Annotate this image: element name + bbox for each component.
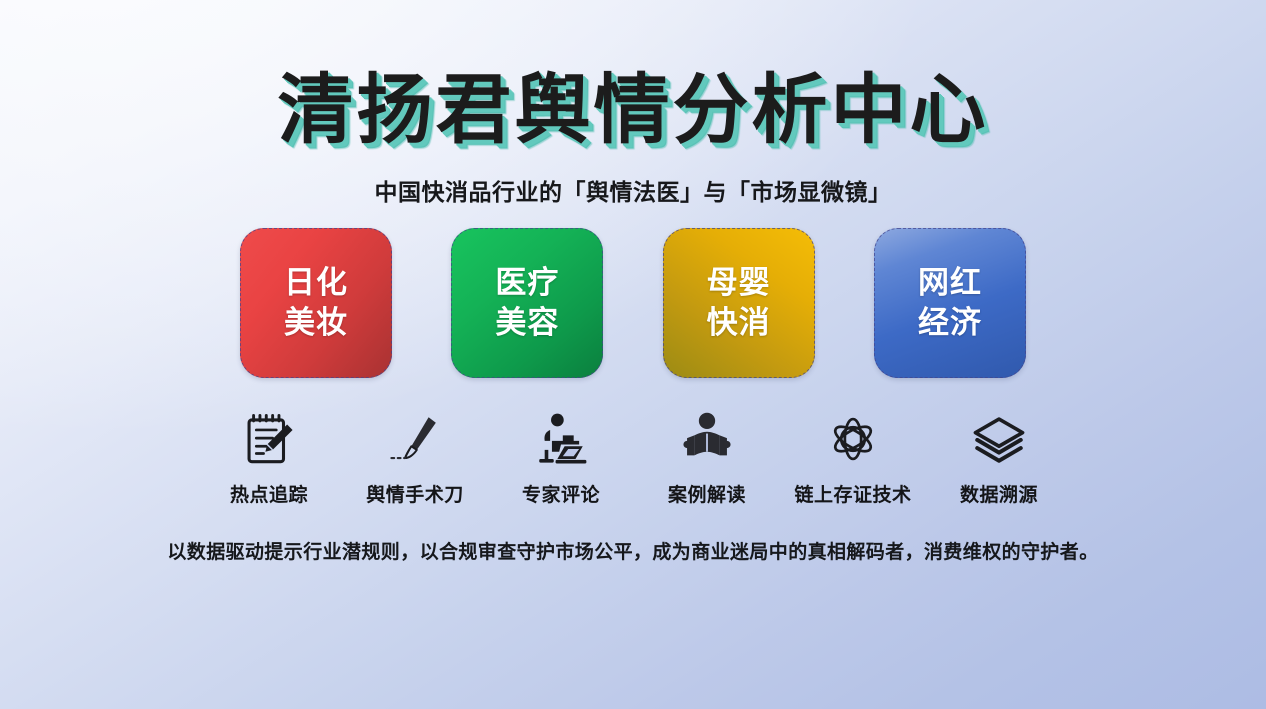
feature-row: 热点追踪 舆情手术刀 — [196, 408, 1072, 507]
notepad-pencil-icon — [240, 408, 298, 470]
person-at-desk-icon — [532, 408, 590, 470]
feature-label: 热点追踪 — [230, 480, 308, 507]
category-card-line-1: 日化 — [284, 263, 348, 303]
page-title: 清扬君舆情分析中心 — [278, 72, 989, 148]
atom-icon — [824, 408, 882, 470]
category-card-line-1: 医疗 — [495, 263, 559, 303]
feature-label: 数据溯源 — [960, 480, 1038, 507]
feature-item-expert-commentary[interactable]: 专家评论 — [488, 408, 634, 507]
category-card-daily-chemical-beauty[interactable]: 日化 美妆 — [240, 228, 392, 378]
category-card-maternal-fmcg[interactable]: 母婴 快消 — [663, 228, 815, 378]
category-card-line-1: 网红 — [918, 263, 982, 303]
feature-label: 链上存证技术 — [794, 480, 911, 507]
scalpel-icon — [386, 408, 444, 470]
feature-label: 案例解读 — [668, 480, 746, 507]
category-card-line-2: 经济 — [918, 303, 982, 343]
feature-item-hotspot-tracking[interactable]: 热点追踪 — [196, 408, 342, 507]
category-card-medical-aesthetics[interactable]: 医疗 美容 — [451, 228, 603, 378]
feature-label: 舆情手术刀 — [366, 480, 464, 507]
title-block: 清扬君舆情分析中心 — [0, 72, 1266, 148]
feature-label: 专家评论 — [522, 480, 600, 507]
stacked-layers-icon — [970, 408, 1028, 470]
feature-item-onchain-evidence[interactable]: 链上存证技术 — [780, 408, 926, 507]
slide-canvas: 清扬君舆情分析中心 中国快消品行业的「舆情法医」与「市场显微镜」 日化 美妆 医… — [0, 0, 1266, 709]
category-card-line-2: 美容 — [495, 303, 559, 343]
feature-item-opinion-scalpel[interactable]: 舆情手术刀 — [342, 408, 488, 507]
feature-item-data-lineage[interactable]: 数据溯源 — [926, 408, 1072, 507]
category-card-line-2: 美妆 — [284, 303, 348, 343]
category-card-line-2: 快消 — [707, 303, 771, 343]
footer-statement: 以数据驱动提示行业潜规则，以合规审查守护市场公平，成为商业迷局中的真相解码者，消… — [0, 537, 1266, 564]
category-card-row: 日化 美妆 医疗 美容 母婴 快消 网红 经济 — [240, 228, 1026, 378]
person-reading-book-icon — [678, 408, 736, 470]
feature-item-case-interpretation[interactable]: 案例解读 — [634, 408, 780, 507]
category-card-influencer-economy[interactable]: 网红 经济 — [874, 228, 1026, 378]
category-card-line-1: 母婴 — [707, 263, 771, 303]
page-subtitle: 中国快消品行业的「舆情法医」与「市场显微镜」 — [0, 173, 1266, 207]
